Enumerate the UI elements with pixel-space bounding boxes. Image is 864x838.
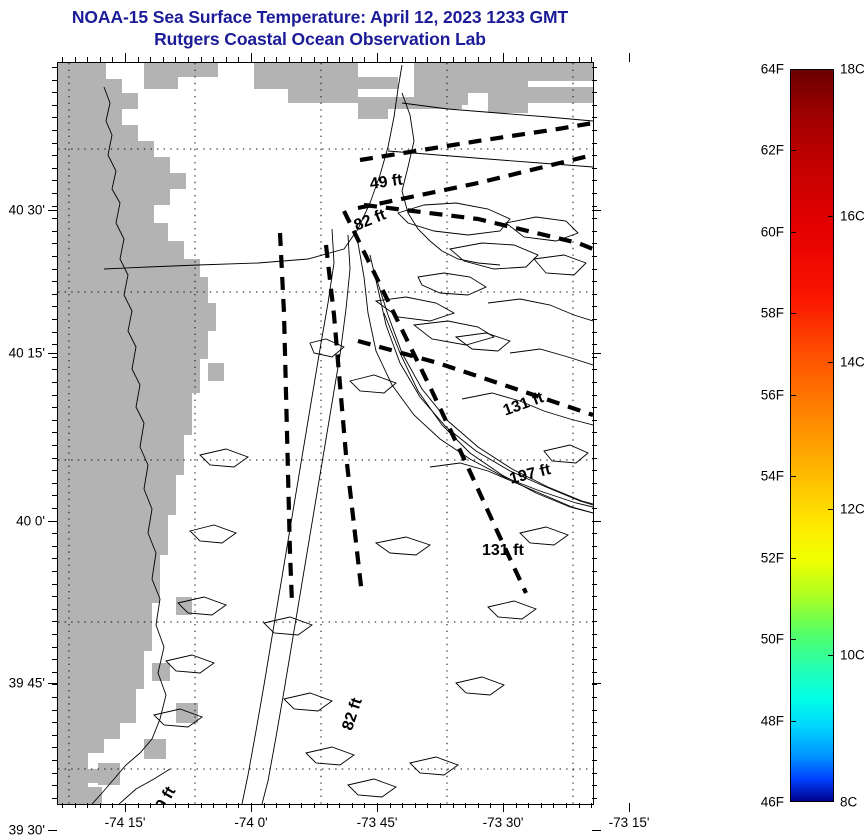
- axis-tick-major: [592, 683, 601, 684]
- axis-tick-minor: [52, 420, 57, 421]
- y-axis-label: 39 30': [0, 823, 45, 838]
- axis-tick-minor: [390, 57, 391, 62]
- axis-tick-major: [629, 803, 630, 812]
- axis-tick-minor: [592, 760, 597, 761]
- sst-map[interactable]: 49 ft82 ft131 ft197 ft131 ft82 ft49 ft: [57, 62, 594, 805]
- axis-tick-minor: [592, 546, 597, 547]
- axis-tick-minor: [415, 57, 416, 62]
- axis-tick-minor: [541, 57, 542, 62]
- axis-tick-major: [592, 830, 601, 831]
- colorbar-tick: [790, 721, 796, 722]
- axis-tick-minor: [52, 306, 57, 307]
- axis-tick-minor: [75, 57, 76, 62]
- axis-tick-minor: [402, 803, 403, 808]
- axis-tick-minor: [415, 803, 416, 808]
- x-axis-label: -74 0': [234, 815, 267, 830]
- axis-tick-minor: [52, 332, 57, 333]
- axis-tick-minor: [528, 57, 529, 62]
- axis-tick-minor: [390, 803, 391, 808]
- colorbar-tick: [828, 216, 834, 217]
- axis-tick-minor: [52, 281, 57, 282]
- axis-tick-minor: [52, 546, 57, 547]
- axis-tick-minor: [175, 803, 176, 808]
- axis-tick-minor: [516, 57, 517, 62]
- axis-tick-minor: [289, 803, 290, 808]
- axis-tick-minor: [592, 634, 597, 635]
- axis-tick-minor: [188, 57, 189, 62]
- axis-tick-minor: [592, 697, 597, 698]
- axis-tick-minor: [592, 609, 597, 610]
- axis-tick-minor: [163, 803, 164, 808]
- axis-tick-minor: [592, 508, 597, 509]
- axis-tick-minor: [592, 180, 597, 181]
- axis-tick-minor: [592, 395, 597, 396]
- axis-tick-minor: [592, 332, 597, 333]
- axis-tick-minor: [465, 57, 466, 62]
- axis-tick-minor: [592, 672, 597, 673]
- axis-tick-minor: [592, 243, 597, 244]
- colorbar-tick: [790, 150, 796, 151]
- axis-tick-minor: [52, 533, 57, 534]
- axis-tick-minor: [52, 596, 57, 597]
- axis-tick-minor: [52, 180, 57, 181]
- axis-tick-minor: [592, 357, 597, 358]
- axis-tick-minor: [52, 647, 57, 648]
- axis-tick-minor: [592, 281, 597, 282]
- colorbar-tick: [790, 476, 796, 477]
- colorbar-c-label: 16C: [840, 208, 864, 223]
- x-axis-label: -73 45': [357, 815, 398, 830]
- axis-tick-minor: [592, 684, 597, 685]
- axis-tick-minor: [52, 432, 57, 433]
- axis-tick-major: [629, 53, 630, 62]
- axis-tick-minor: [52, 609, 57, 610]
- axis-tick-minor: [52, 143, 57, 144]
- axis-tick-minor: [289, 57, 290, 62]
- axis-tick-minor: [52, 243, 57, 244]
- colorbar-f-label: 60F: [761, 224, 784, 239]
- axis-tick-minor: [592, 105, 597, 106]
- axis-tick-minor: [213, 803, 214, 808]
- axis-tick-major: [48, 683, 57, 684]
- axis-tick-minor: [592, 432, 597, 433]
- colorbar-tick: [790, 639, 796, 640]
- y-axis-label: 40 15': [0, 346, 45, 361]
- colorbar-c-label: 10C: [840, 648, 864, 663]
- axis-tick-minor: [52, 117, 57, 118]
- axis-tick-minor: [402, 57, 403, 62]
- axis-tick-minor: [592, 659, 597, 660]
- colorbar-f-label: 56F: [761, 387, 784, 402]
- axis-tick-minor: [52, 344, 57, 345]
- axis-tick-minor: [188, 803, 189, 808]
- colorbar-f-label: 64F: [761, 62, 784, 77]
- axis-tick-minor: [592, 382, 597, 383]
- axis-tick-minor: [592, 647, 597, 648]
- axis-tick-minor: [52, 382, 57, 383]
- axis-tick-minor: [314, 57, 315, 62]
- axis-tick-minor: [465, 803, 466, 808]
- axis-tick-major: [125, 53, 126, 62]
- axis-tick-minor: [592, 722, 597, 723]
- axis-tick-major: [377, 53, 378, 62]
- axis-tick-minor: [592, 294, 597, 295]
- colorbar-f-label: 50F: [761, 632, 784, 647]
- axis-tick-minor: [52, 785, 57, 786]
- axis-tick-minor: [478, 57, 479, 62]
- axis-tick-minor: [364, 57, 365, 62]
- axis-tick-minor: [52, 672, 57, 673]
- axis-tick-minor: [52, 558, 57, 559]
- axis-tick-minor: [592, 269, 597, 270]
- axis-tick-minor: [52, 206, 57, 207]
- axis-tick-minor: [52, 571, 57, 572]
- axis-tick-minor: [592, 621, 597, 622]
- colorbar-f-label: 58F: [761, 306, 784, 321]
- axis-tick-major: [377, 803, 378, 812]
- axis-tick-minor: [592, 596, 597, 597]
- colorbar-f-label: 48F: [761, 713, 784, 728]
- axis-tick-minor: [52, 798, 57, 799]
- transect-lines: [280, 123, 593, 603]
- axis-tick-minor: [592, 445, 597, 446]
- axis-tick-minor: [592, 193, 597, 194]
- colorbar-tick: [790, 69, 796, 70]
- axis-tick-minor: [238, 57, 239, 62]
- axis-tick-minor: [579, 803, 580, 808]
- axis-tick-minor: [201, 57, 202, 62]
- axis-tick-minor: [264, 57, 265, 62]
- axis-tick-minor: [52, 294, 57, 295]
- y-axis-label: 39 45': [0, 676, 45, 691]
- axis-tick-minor: [226, 57, 227, 62]
- axis-tick-minor: [579, 57, 580, 62]
- axis-tick-minor: [52, 369, 57, 370]
- axis-tick-minor: [592, 92, 597, 93]
- axis-tick-minor: [112, 57, 113, 62]
- axis-tick-minor: [453, 803, 454, 808]
- axis-tick-minor: [592, 798, 597, 799]
- axis-tick-minor: [327, 803, 328, 808]
- x-axis-label: -74 15': [105, 815, 146, 830]
- axis-tick-minor: [52, 458, 57, 459]
- axis-tick-minor: [52, 735, 57, 736]
- axis-tick-minor: [592, 571, 597, 572]
- axis-tick-minor: [592, 306, 597, 307]
- colorbar-c-label: 14C: [840, 355, 864, 370]
- title-line-2: Rutgers Coastal Ocean Observation Lab: [0, 28, 640, 50]
- colorbar-c-label: 12C: [840, 501, 864, 516]
- axis-tick-minor: [62, 803, 63, 808]
- axis-tick-minor: [592, 206, 597, 207]
- axis-tick-minor: [566, 803, 567, 808]
- axis-tick-major: [592, 353, 601, 354]
- axis-tick-minor: [592, 773, 597, 774]
- map-canvas: [58, 63, 593, 804]
- axis-tick-minor: [490, 803, 491, 808]
- axis-tick-minor: [238, 803, 239, 808]
- axis-tick-minor: [52, 269, 57, 270]
- x-axis-label: -73 30': [483, 815, 524, 830]
- axis-tick-minor: [75, 803, 76, 808]
- axis-tick-major: [503, 803, 504, 812]
- axis-tick-minor: [490, 57, 491, 62]
- axis-tick-minor: [352, 57, 353, 62]
- axis-tick-minor: [52, 470, 57, 471]
- axis-tick-major: [48, 830, 57, 831]
- axis-tick-minor: [478, 803, 479, 808]
- axis-tick-minor: [138, 803, 139, 808]
- title-line-1: NOAA-15 Sea Surface Temperature: April 1…: [0, 6, 640, 28]
- colorbar-tick: [828, 655, 834, 656]
- axis-tick-minor: [516, 803, 517, 808]
- axis-tick-minor: [52, 659, 57, 660]
- axis-tick-minor: [592, 470, 597, 471]
- axis-tick-major: [251, 53, 252, 62]
- axis-tick-minor: [528, 803, 529, 808]
- axis-tick-minor: [301, 57, 302, 62]
- axis-tick-minor: [592, 533, 597, 534]
- axis-tick-minor: [87, 803, 88, 808]
- axis-tick-major: [48, 353, 57, 354]
- colorbar-f-label: 46F: [761, 795, 784, 810]
- axis-tick-major: [592, 521, 601, 522]
- axis-tick-major: [503, 53, 504, 62]
- axis-tick-minor: [52, 722, 57, 723]
- axis-tick-minor: [566, 57, 567, 62]
- axis-tick-minor: [52, 760, 57, 761]
- axis-tick-minor: [52, 92, 57, 93]
- axis-tick-minor: [541, 803, 542, 808]
- colorbar-f-label: 54F: [761, 469, 784, 484]
- axis-tick-minor: [427, 803, 428, 808]
- axis-tick-minor: [592, 143, 597, 144]
- axis-tick-minor: [592, 584, 597, 585]
- axis-tick-minor: [553, 803, 554, 808]
- axis-tick-minor: [52, 80, 57, 81]
- axis-tick-major: [48, 521, 57, 522]
- axis-tick-minor: [52, 67, 57, 68]
- axis-tick-major: [251, 803, 252, 812]
- axis-tick-minor: [327, 57, 328, 62]
- axis-tick-minor: [592, 130, 597, 131]
- axis-tick-minor: [592, 117, 597, 118]
- axis-tick-minor: [592, 67, 597, 68]
- depth-contour-label: 131 ft: [482, 542, 524, 560]
- axis-tick-minor: [175, 57, 176, 62]
- axis-tick-minor: [592, 155, 597, 156]
- axis-tick-major: [592, 210, 601, 211]
- axis-tick-minor: [100, 57, 101, 62]
- axis-tick-minor: [87, 57, 88, 62]
- axis-tick-minor: [52, 584, 57, 585]
- axis-tick-minor: [52, 773, 57, 774]
- axis-tick-minor: [226, 803, 227, 808]
- axis-tick-minor: [213, 57, 214, 62]
- axis-tick-minor: [591, 57, 592, 62]
- colorbar-fahrenheit-labels: 64F62F60F58F56F54F52F50F48F46F: [742, 69, 784, 802]
- axis-tick-minor: [52, 634, 57, 635]
- axis-tick-minor: [163, 57, 164, 62]
- axis-tick-minor: [364, 803, 365, 808]
- axis-tick-minor: [52, 193, 57, 194]
- axis-tick-minor: [52, 621, 57, 622]
- axis-tick-minor: [52, 218, 57, 219]
- colorbar-tick: [828, 362, 834, 363]
- axis-tick-minor: [440, 57, 441, 62]
- axis-tick-minor: [276, 57, 277, 62]
- axis-tick-minor: [52, 407, 57, 408]
- axis-tick-minor: [62, 57, 63, 62]
- axis-tick-minor: [52, 395, 57, 396]
- axis-tick-minor: [52, 357, 57, 358]
- colorbar-celsius-labels: 18C16C14C12C10C8C: [840, 69, 864, 802]
- axis-tick-minor: [52, 105, 57, 106]
- colorbar-c-label: 8C: [840, 795, 857, 810]
- axis-tick-minor: [138, 57, 139, 62]
- chart-title-block: NOAA-15 Sea Surface Temperature: April 1…: [0, 6, 640, 50]
- axis-tick-minor: [52, 256, 57, 257]
- colorbar-tick: [790, 558, 796, 559]
- axis-tick-minor: [52, 168, 57, 169]
- axis-tick-minor: [427, 57, 428, 62]
- colorbar-gradient: [790, 69, 834, 802]
- colorbar-tick: [790, 395, 796, 396]
- axis-tick-minor: [592, 231, 597, 232]
- axis-tick-minor: [112, 803, 113, 808]
- axis-tick-minor: [52, 747, 57, 748]
- axis-tick-minor: [100, 803, 101, 808]
- axis-tick-minor: [440, 803, 441, 808]
- axis-tick-minor: [592, 558, 597, 559]
- axis-tick-minor: [592, 80, 597, 81]
- axis-tick-minor: [592, 407, 597, 408]
- axis-tick-minor: [592, 483, 597, 484]
- axis-tick-minor: [52, 130, 57, 131]
- axis-tick-minor: [52, 710, 57, 711]
- axis-tick-minor: [592, 495, 597, 496]
- axis-tick-minor: [52, 483, 57, 484]
- axis-tick-minor: [276, 803, 277, 808]
- axis-tick-minor: [52, 495, 57, 496]
- axis-tick-minor: [150, 57, 151, 62]
- axis-tick-minor: [592, 420, 597, 421]
- axis-tick-minor: [592, 256, 597, 257]
- axis-tick-minor: [314, 803, 315, 808]
- axis-tick-minor: [453, 57, 454, 62]
- axis-tick-minor: [592, 168, 597, 169]
- axis-tick-minor: [592, 747, 597, 748]
- colorbar-f-label: 52F: [761, 550, 784, 565]
- colorbar-tick: [790, 232, 796, 233]
- axis-tick-minor: [201, 803, 202, 808]
- axis-tick-minor: [150, 803, 151, 808]
- axis-tick-minor: [52, 508, 57, 509]
- axis-tick-minor: [592, 218, 597, 219]
- axis-tick-minor: [264, 803, 265, 808]
- axis-tick-minor: [52, 445, 57, 446]
- axis-tick-minor: [339, 57, 340, 62]
- axis-tick-minor: [52, 155, 57, 156]
- axis-tick-minor: [301, 803, 302, 808]
- x-axis-label: -73 15': [609, 815, 650, 830]
- axis-tick-minor: [352, 803, 353, 808]
- colorbar-tick: [828, 509, 834, 510]
- y-axis-label: 40 0': [0, 514, 45, 529]
- axis-tick-minor: [52, 319, 57, 320]
- axis-tick-minor: [592, 710, 597, 711]
- axis-tick-minor: [52, 684, 57, 685]
- axis-tick-minor: [592, 369, 597, 370]
- axis-tick-minor: [591, 803, 592, 808]
- axis-tick-minor: [592, 458, 597, 459]
- axis-tick-minor: [592, 319, 597, 320]
- axis-tick-major: [48, 210, 57, 211]
- axis-tick-major: [125, 803, 126, 812]
- axis-tick-minor: [553, 57, 554, 62]
- axis-tick-minor: [52, 697, 57, 698]
- colorbar-tick: [828, 69, 834, 70]
- axis-tick-minor: [592, 785, 597, 786]
- colorbar-f-label: 62F: [761, 143, 784, 158]
- colorbar-tick: [790, 313, 796, 314]
- axis-tick-minor: [592, 344, 597, 345]
- axis-tick-minor: [592, 735, 597, 736]
- axis-tick-minor: [52, 231, 57, 232]
- y-axis-label: 40 30': [0, 203, 45, 218]
- colorbar[interactable]: [790, 69, 834, 802]
- colorbar-c-label: 18C: [840, 62, 864, 77]
- axis-tick-minor: [339, 803, 340, 808]
